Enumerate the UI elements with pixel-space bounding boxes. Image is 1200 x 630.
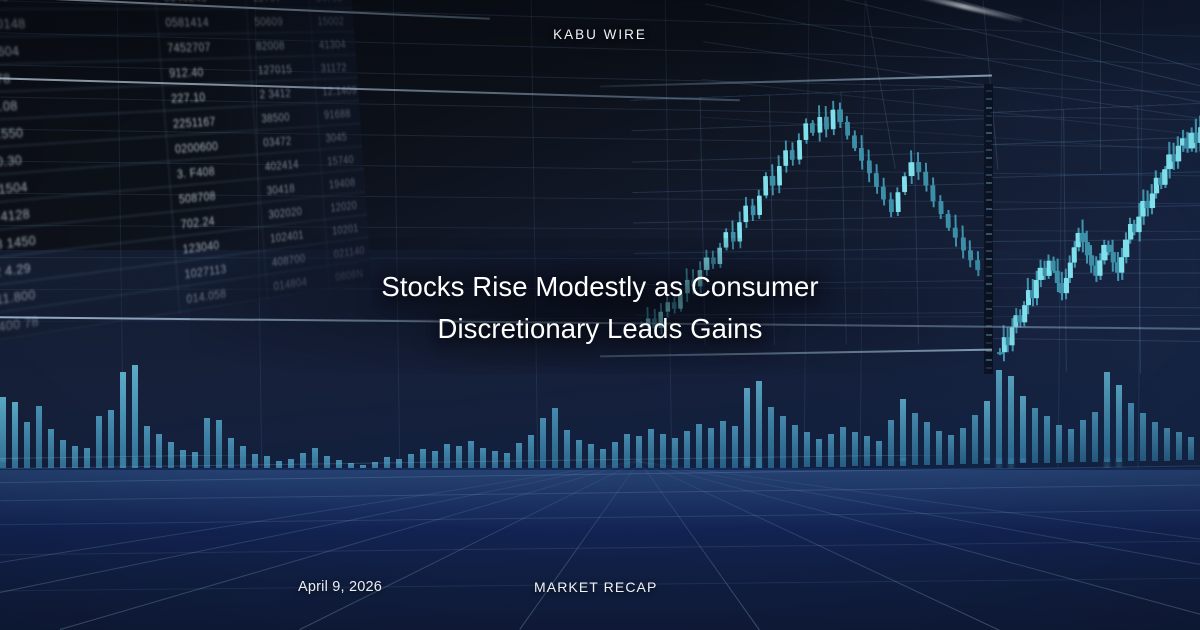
- candle: [1195, 119, 1198, 153]
- candle: [798, 133, 801, 164]
- candle: [903, 172, 905, 195]
- candlestick-chart-right: [991, 102, 1200, 375]
- candle: [1040, 260, 1042, 287]
- candle: [875, 164, 878, 194]
- candle: [732, 220, 734, 250]
- candle: [1103, 239, 1105, 264]
- candle: [890, 192, 892, 217]
- page-title: Stocks Rise Modestly as Consumer Discret…: [190, 266, 1010, 350]
- headline-line-1: Stocks Rise Modestly as Consumer: [190, 266, 1010, 308]
- volume-bar: [1104, 372, 1110, 462]
- candle: [925, 163, 928, 192]
- candle: [1061, 272, 1063, 301]
- volume-bar: [996, 370, 1002, 464]
- footer: April 9, 2026 MARKET RECAP: [0, 579, 1200, 601]
- volume-bar: [1008, 376, 1014, 463]
- candle: [791, 142, 793, 166]
- headline-line-2: Discretionary Leads Gains: [190, 308, 1010, 350]
- candle: [882, 178, 884, 205]
- floor-grid: [0, 455, 1200, 630]
- candle: [832, 101, 835, 136]
- candle-series-right: [991, 102, 1200, 375]
- candle: [1129, 218, 1131, 244]
- candle: [853, 130, 855, 151]
- candle: [1191, 128, 1193, 152]
- banner-canvas: 548 2.5631462451270754700304 1.014805814…: [0, 0, 1200, 630]
- candle: [917, 152, 920, 180]
- publish-date: April 9, 2026: [298, 579, 382, 595]
- candle: [825, 106, 828, 137]
- candle: [939, 195, 941, 219]
- candle: [771, 164, 773, 195]
- candle: [897, 187, 900, 216]
- candle: [860, 135, 863, 170]
- candle: [745, 197, 747, 228]
- candle: [947, 210, 949, 231]
- candle: [910, 151, 913, 185]
- candle: [778, 155, 781, 193]
- volume-bar: [1116, 385, 1122, 461]
- candle: [758, 190, 760, 219]
- candle: [719, 243, 721, 268]
- candle: [1019, 309, 1021, 327]
- candle: [805, 118, 807, 143]
- candle: [725, 228, 727, 250]
- candle: [812, 120, 814, 136]
- volume-bar: [1140, 413, 1146, 461]
- candle: [954, 215, 957, 247]
- candle: [738, 212, 741, 249]
- candle: [932, 177, 935, 206]
- candle: [969, 240, 972, 267]
- section-kicker: MARKET RECAP: [534, 579, 657, 595]
- candle: [839, 102, 841, 128]
- candle: [1125, 232, 1127, 263]
- candle: [962, 226, 965, 259]
- candle: [765, 172, 767, 199]
- candle: [1108, 241, 1110, 255]
- candle: [784, 141, 787, 174]
- candle: [752, 198, 754, 220]
- brand-label: KABU WIRE: [0, 27, 1200, 42]
- candle: [1086, 231, 1088, 264]
- candle: [868, 149, 871, 181]
- candle: [1146, 191, 1148, 216]
- candle: [818, 105, 821, 142]
- volume-bar: [1128, 403, 1134, 462]
- volume-bar: [1020, 396, 1026, 463]
- candle: [1081, 219, 1083, 252]
- candle: [1168, 141, 1171, 178]
- candle: [846, 116, 848, 139]
